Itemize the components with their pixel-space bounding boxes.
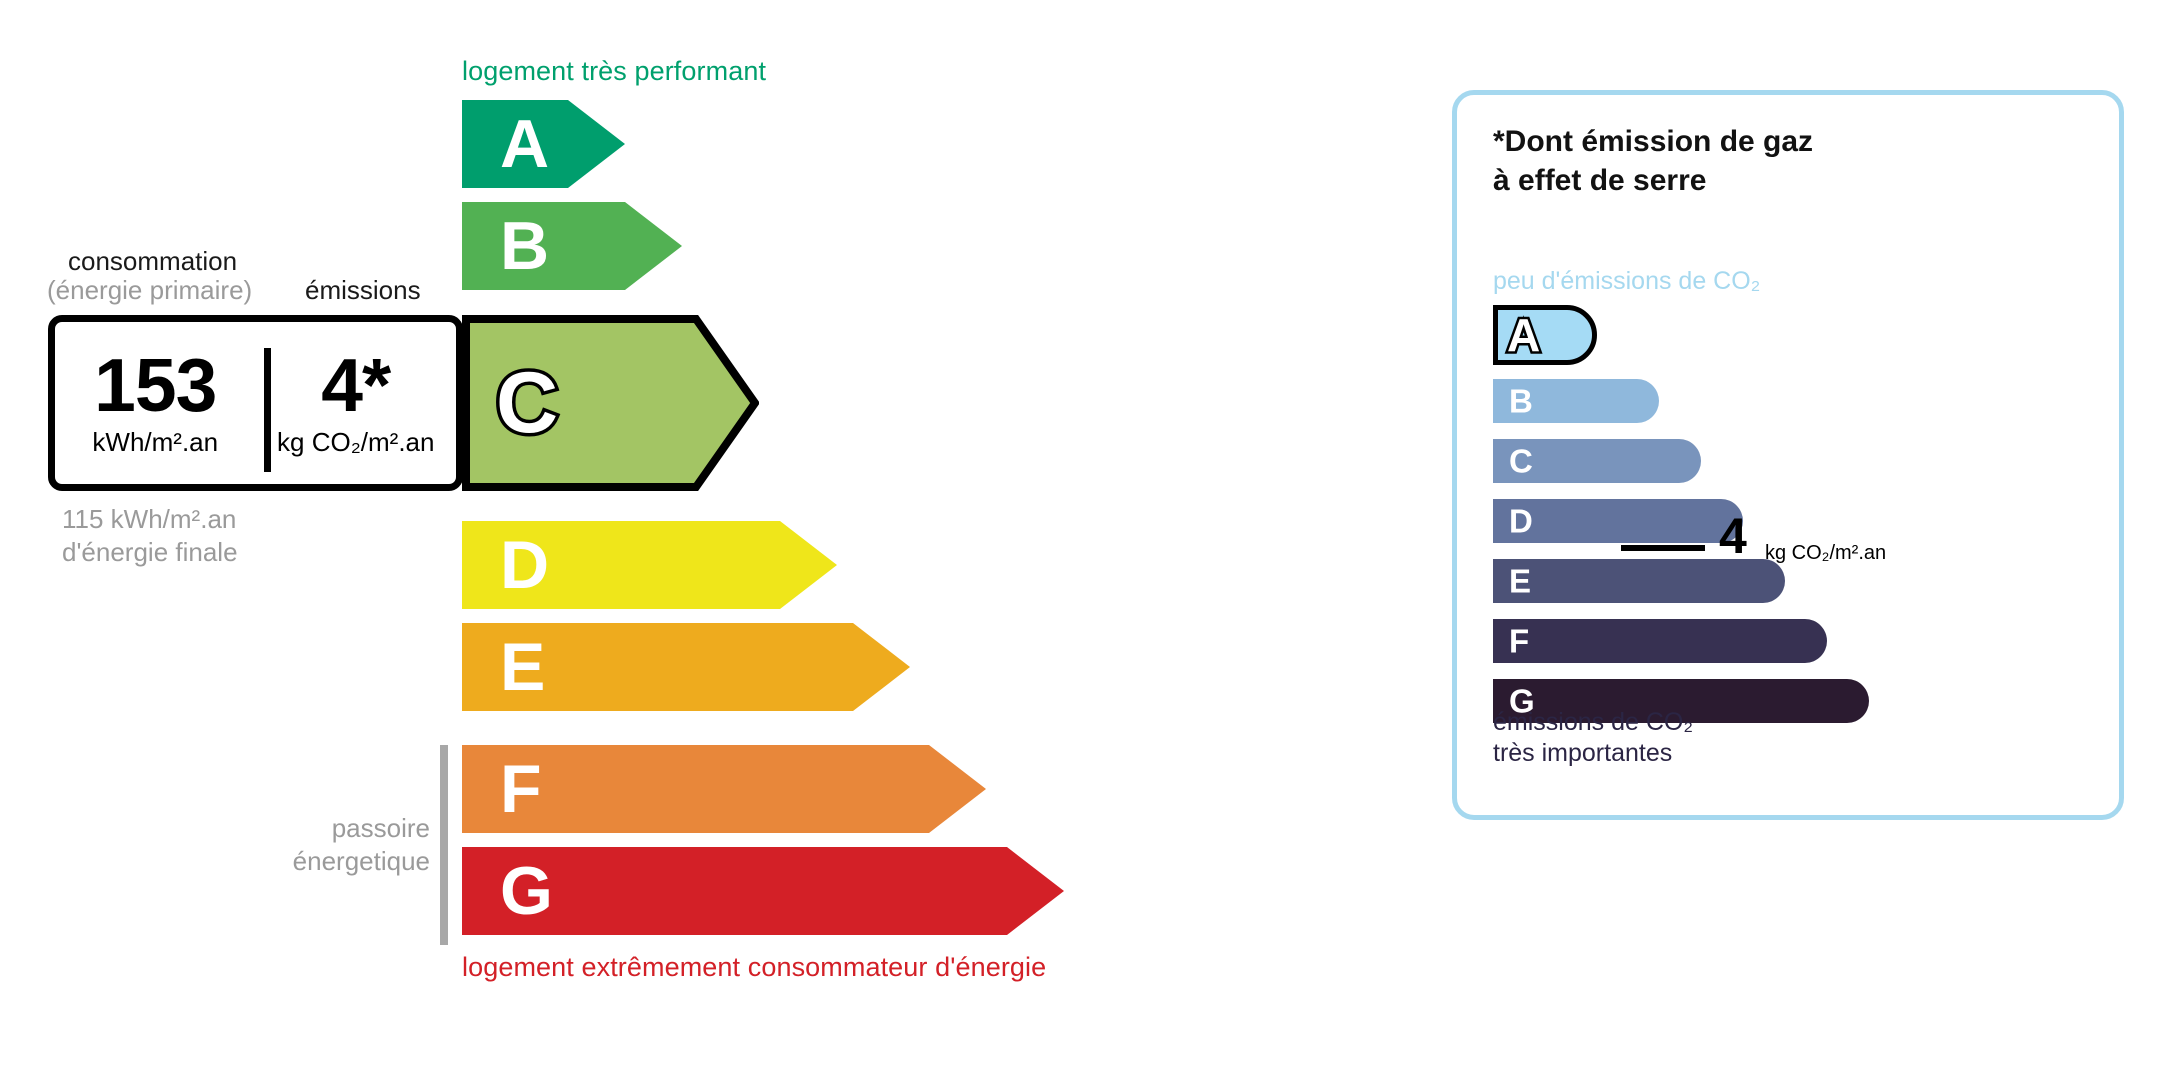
ges-bar-a: A xyxy=(1493,305,1597,365)
ges-caption-bottom-line-2: très importantes xyxy=(1493,738,1693,769)
energy-band-b: B xyxy=(462,202,682,290)
ges-bar-fill-e xyxy=(1493,559,1785,603)
energy-band-arrow-d xyxy=(462,521,837,609)
ges-caption-top: peu d'émissions de CO₂ xyxy=(1493,267,1760,296)
ges-bar-letter-f: F xyxy=(1509,625,1529,658)
final-energy-value: 115 kWh/m².an xyxy=(62,503,238,536)
passoire-line-1: passoire xyxy=(240,812,430,845)
energy-band-c: C xyxy=(462,315,759,491)
consumption-value: 153 xyxy=(94,349,216,421)
ges-value-unit: kg CO₂/m².an xyxy=(1765,542,1886,565)
energy-band-e: E xyxy=(462,623,910,711)
ges-bar-b: B xyxy=(1493,379,1659,423)
final-energy-label: d'énergie finale xyxy=(62,536,238,569)
ges-bar-letter-d: D xyxy=(1509,505,1533,538)
energy-band-arrow-e xyxy=(462,623,910,711)
energy-band-arrow-b xyxy=(462,202,682,290)
energy-band-a: A xyxy=(462,100,625,188)
ges-title-line-1: *Dont émission de gaz xyxy=(1493,122,1813,161)
emission-unit: kg CO₂/m².an xyxy=(277,427,434,458)
ges-leader-line xyxy=(1621,545,1705,551)
ges-bar-letter-a: A xyxy=(1507,312,1540,358)
energy-band-arrow-c xyxy=(462,315,759,491)
energy-performance-scale: logement très performant ABCDEFG logemen… xyxy=(0,0,1400,1079)
ges-bar-letter-e: E xyxy=(1509,565,1531,598)
value-box: 153 kWh/m².an 4* kg CO₂/m².an xyxy=(48,315,463,491)
ges-bar-letter-c: C xyxy=(1509,445,1533,478)
ges-panel-title: *Dont émission de gaz à effet de serre xyxy=(1493,122,1813,200)
ges-bar-d: D xyxy=(1493,499,1743,543)
scale-caption-bottom: logement extrêmement consommateur d'éner… xyxy=(462,952,1046,983)
ges-bar-e: E xyxy=(1493,559,1785,603)
consumption-header: consommation xyxy=(68,246,237,277)
ges-bar-list: GFEDCBA 4 kg CO₂/m².an xyxy=(1493,305,2093,705)
ges-value: 4 xyxy=(1719,511,1747,561)
ges-bar-f: F xyxy=(1493,619,1827,663)
ges-caption-bottom: émissions de CO₂ très importantes xyxy=(1493,707,1693,770)
ges-bar-fill-f xyxy=(1493,619,1827,663)
energy-band-arrow-a xyxy=(462,100,625,188)
ges-caption-bottom-line-1: émissions de CO₂ xyxy=(1493,707,1693,738)
energy-band-arrow-g xyxy=(462,847,1064,935)
energy-band-arrow-f xyxy=(462,745,986,833)
energy-band-d: D xyxy=(462,521,837,609)
emissions-header: émissions xyxy=(305,275,421,306)
consumption-header-sub: (énergie primaire) xyxy=(47,275,252,306)
emission-value: 4* xyxy=(321,349,390,421)
consumption-cell: 153 kWh/m².an xyxy=(55,322,256,484)
emission-cell: 4* kg CO₂/m².an xyxy=(256,322,457,484)
passoire-line-2: énergetique xyxy=(240,845,430,878)
energy-band-f: F xyxy=(462,745,986,833)
ges-bar-letter-b: B xyxy=(1509,385,1533,418)
passoire-energetique-marker xyxy=(440,745,448,945)
passoire-energetique-label: passoire énergetique xyxy=(240,812,430,877)
value-box-divider xyxy=(264,348,271,472)
greenhouse-gas-panel: *Dont émission de gaz à effet de serre p… xyxy=(1452,90,2124,820)
ges-title-line-2: à effet de serre xyxy=(1493,161,1813,200)
ges-bar-c: C xyxy=(1493,439,1701,483)
consumption-unit: kWh/m².an xyxy=(92,427,218,458)
final-energy-note: 115 kWh/m².an d'énergie finale xyxy=(62,503,238,570)
energy-band-g: G xyxy=(462,847,1064,935)
